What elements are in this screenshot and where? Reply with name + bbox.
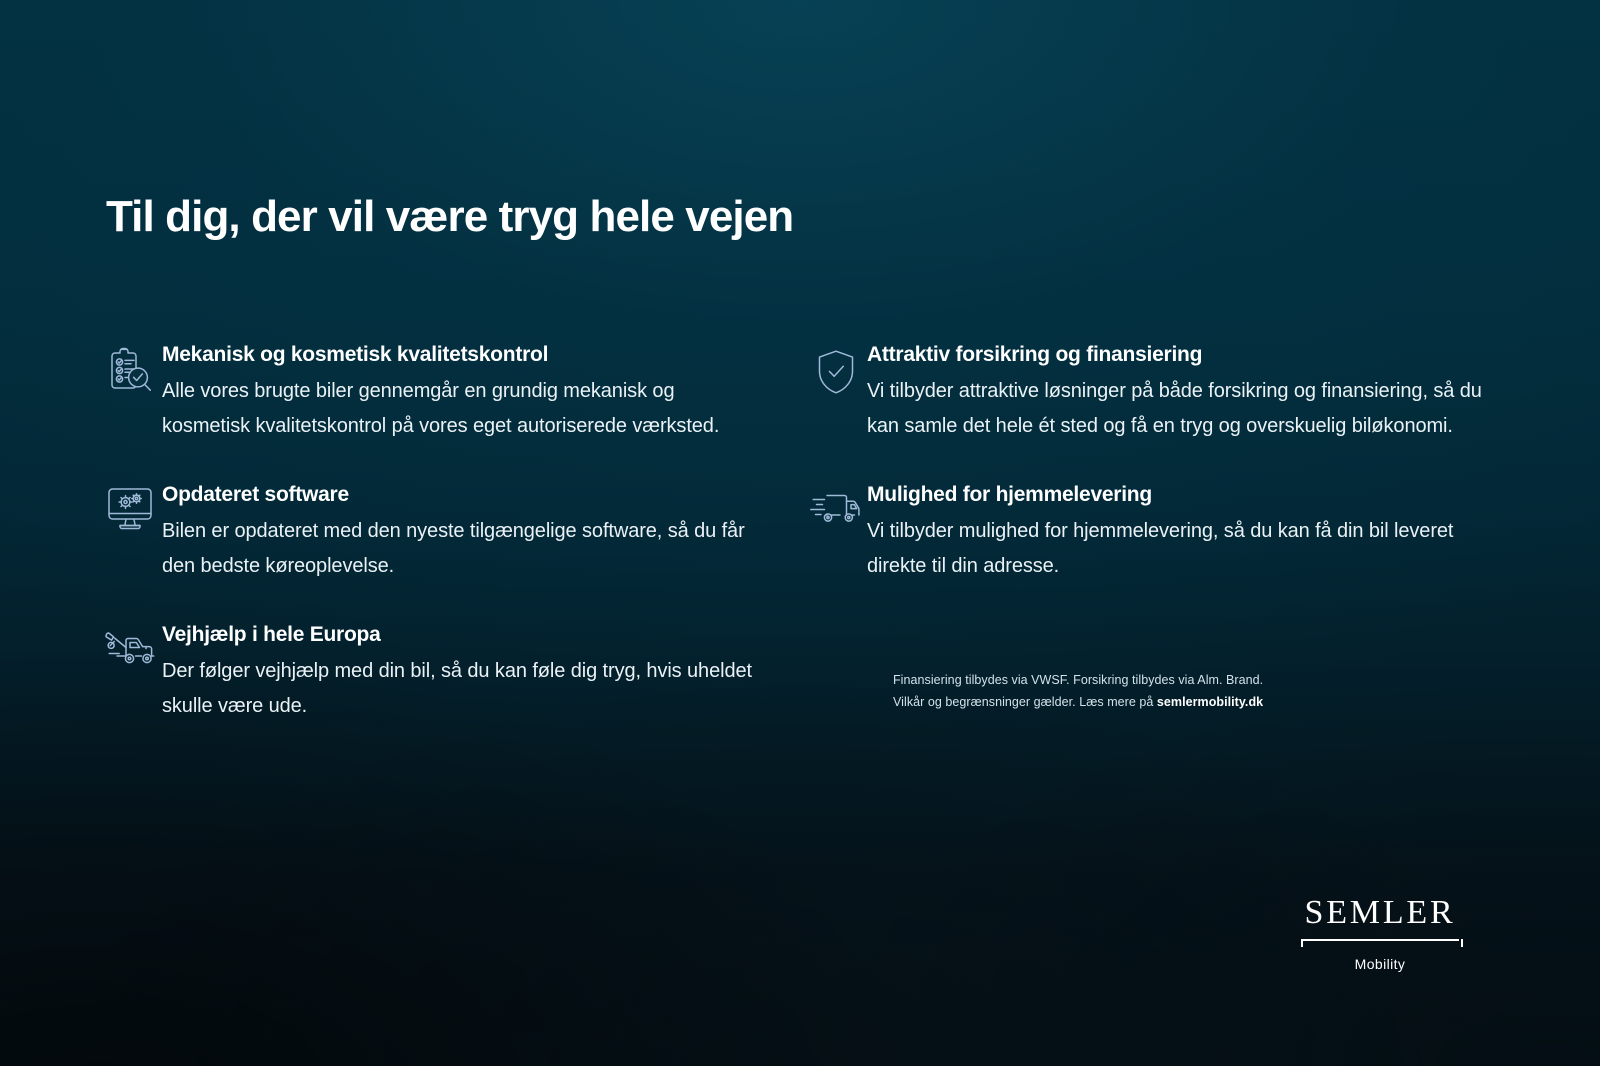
- shield-check-icon: [805, 340, 867, 396]
- feature-title: Mulighed for hjemmelevering: [867, 482, 1485, 508]
- feature-description: Der følger vejhjælp med din bil, så du k…: [162, 654, 760, 723]
- legal-disclaimer: Finansiering tilbydes via VWSF. Forsikri…: [893, 670, 1393, 713]
- feature-updated-software: Opdateret software Bilen er opdateret me…: [100, 480, 760, 583]
- disclaimer-line-2-text: Vilkår og begrænsninger gælder. Læs mere…: [893, 695, 1157, 709]
- semlermobility-link[interactable]: semlermobility.dk: [1157, 695, 1263, 709]
- clipboard-checklist-magnifier-icon: [100, 340, 162, 396]
- feature-text: Mulighed for hjemmelevering Vi tilbyder …: [867, 480, 1485, 583]
- feature-title: Attraktiv forsikring og finansiering: [867, 342, 1485, 368]
- disclaimer-line-1: Finansiering tilbydes via VWSF. Forsikri…: [893, 670, 1393, 692]
- feature-title: Vejhjælp i hele Europa: [162, 622, 760, 648]
- feature-description: Vi tilbyder mulighed for hjemmelevering,…: [867, 514, 1485, 583]
- feature-description: Bilen er opdateret med den nyeste tilgæn…: [162, 514, 760, 583]
- tow-truck-icon: [100, 620, 162, 676]
- semler-mobility-logo: SEMLER Mobility: [1301, 896, 1459, 972]
- feature-text: Vejhjælp i hele Europa Der følger vejhjæ…: [162, 620, 760, 723]
- logo-wordmark: SEMLER: [1301, 896, 1459, 930]
- page-title: Til dig, der vil være tryg hele vejen: [106, 193, 793, 241]
- promo-slide: Til dig, der vil være tryg hele vejen: [0, 0, 1600, 1066]
- feature-text: Mekanisk og kosmetisk kvalitetskontrol A…: [162, 340, 760, 443]
- feature-home-delivery: Mulighed for hjemmelevering Vi tilbyder …: [805, 480, 1485, 583]
- feature-title: Opdateret software: [162, 482, 760, 508]
- feature-roadside-assistance: Vejhjælp i hele Europa Der følger vejhjæ…: [100, 620, 760, 723]
- logo-divider: [1301, 939, 1459, 949]
- feature-description: Vi tilbyder attraktive løsninger på både…: [867, 374, 1485, 443]
- feature-quality-control: Mekanisk og kosmetisk kvalitetskontrol A…: [100, 340, 760, 443]
- feature-text: Attraktiv forsikring og finansiering Vi …: [867, 340, 1485, 443]
- feature-description: Alle vores brugte biler gennemgår en gru…: [162, 374, 760, 443]
- feature-title: Mekanisk og kosmetisk kvalitetskontrol: [162, 342, 760, 368]
- logo-subtitle: Mobility: [1301, 956, 1459, 972]
- feature-text: Opdateret software Bilen er opdateret me…: [162, 480, 760, 583]
- disclaimer-line-2: Vilkår og begrænsninger gælder. Læs mere…: [893, 692, 1393, 714]
- delivery-truck-icon: [805, 480, 867, 536]
- monitor-gears-icon: [100, 480, 162, 536]
- features-column-left: Mekanisk og kosmetisk kvalitetskontrol A…: [100, 340, 760, 723]
- features-column-right: Attraktiv forsikring og finansiering Vi …: [805, 340, 1485, 583]
- feature-insurance-financing: Attraktiv forsikring og finansiering Vi …: [805, 340, 1485, 443]
